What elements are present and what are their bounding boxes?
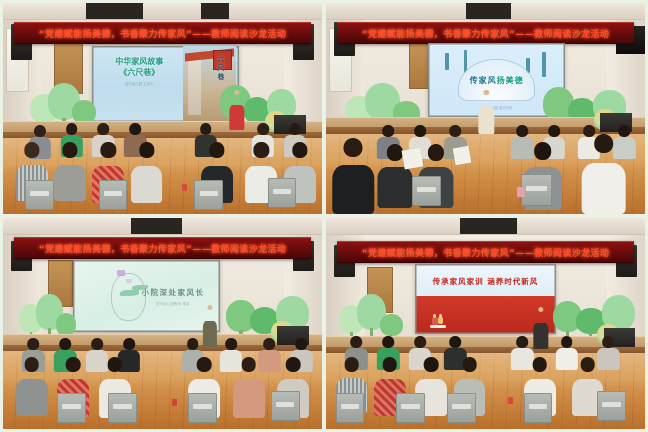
slide-vertical-text: 六尺巷 <box>216 55 226 82</box>
slide-square-deco <box>117 270 124 276</box>
folding-chair <box>271 391 300 421</box>
water-bottle <box>172 399 177 406</box>
folding-chair <box>57 393 86 423</box>
event-banner: “党建赋能扬美德，书香聚力传家风”——教师阅读沙龙活动 <box>337 241 634 263</box>
folding-chair <box>336 393 365 423</box>
photo-panel-top-right[interactable]: “党建赋能扬美德，书香聚力传家风”——教师阅读沙龙活动 传家风扬美德 富兴幼儿园… <box>326 3 645 214</box>
folding-chair <box>108 393 137 423</box>
banner-text: “党建赋能扬美德，书香聚力传家风”——教师阅读沙龙活动 <box>362 27 610 40</box>
presenter <box>226 90 247 130</box>
slide-subtitle: 富兴幼儿园教师 李某 <box>135 301 211 306</box>
drink-cup <box>517 187 525 198</box>
folding-chair <box>99 180 128 210</box>
banner-text: “党建赋能扬美德，书香聚力传家风”——教师阅读沙龙活动 <box>39 27 287 40</box>
slide-title-line1: 中华家风故事 <box>101 57 177 68</box>
slide-children-illustration <box>429 311 457 332</box>
event-banner: “党建赋能扬美德，书香聚力传家风”——教师阅读沙龙活动 <box>14 237 311 259</box>
folding-chair <box>521 174 553 206</box>
folding-chair <box>25 180 54 210</box>
audience-member <box>131 142 163 203</box>
folding-chair <box>412 176 441 206</box>
water-bottle <box>182 184 187 191</box>
water-bottle <box>508 397 513 404</box>
folding-chair <box>188 393 217 423</box>
audience-member <box>332 138 373 214</box>
projection-screen: 中华家风故事 《六尺巷》 富兴幼儿园 主讲人 六尺巷 <box>92 46 239 122</box>
slide-bar-deco <box>542 52 546 77</box>
slide-square-deco <box>126 279 132 283</box>
event-banner: “党建赋能扬美德，书香聚力传家风”——教师阅读沙龙活动 <box>14 22 311 44</box>
audience-member <box>233 357 265 418</box>
folding-chair <box>597 391 626 421</box>
photo-panel-top-left[interactable]: “党建赋能扬美德，书香聚力传家风”——教师阅读沙龙活动 中华家风故事 《六尺巷》… <box>3 3 322 214</box>
banner-text: “党建赋能扬美德，书香聚力传家风”——教师阅读沙龙活动 <box>362 246 610 259</box>
handout-paper <box>452 145 471 164</box>
banner-text: “党建赋能扬美德，书香聚力传家风”——教师阅读沙龙活动 <box>39 242 287 255</box>
slide-bar-deco <box>445 53 449 69</box>
photo-collage: “党建赋能扬美德，书香聚力传家风”——教师阅读沙龙活动 中华家风故事 《六尺巷》… <box>0 0 648 432</box>
photo-panel-bottom-right[interactable]: “党建赋能扬美德，书香聚力传家风”——教师阅读沙龙活动 传承家风家训 涵养时代新… <box>326 218 645 429</box>
event-banner: “党建赋能扬美德，书香聚力传家风”——教师阅读沙龙活动 <box>337 22 634 44</box>
slide-title-line2: 扬美德 <box>497 76 524 85</box>
projection-screen: 小院深处家风长 富兴幼儿园教师 李某 <box>73 260 220 332</box>
slide-fan-text: 传家风扬美德 <box>470 75 524 86</box>
slide-title-line1: 传家风 <box>470 76 497 85</box>
slide-subtitle: 富兴幼儿园 主讲人 <box>101 81 177 86</box>
slide-title-line2: 《六尺巷》 <box>101 68 177 79</box>
handout-paper <box>401 147 423 169</box>
folding-chair <box>447 393 476 423</box>
presenter <box>476 90 497 134</box>
photo-panel-bottom-left[interactable]: “党建赋能扬美德，书香聚力传家风”——教师阅读沙龙活动 小院深处家风长 富兴幼儿… <box>3 218 322 429</box>
folding-chair <box>524 393 553 423</box>
slide-title-line1: 传承家风家训 涵养时代新风 <box>415 276 555 287</box>
audience-member <box>581 134 626 214</box>
ceiling <box>3 3 322 20</box>
folding-chair <box>194 180 223 210</box>
audience-member <box>16 357 48 416</box>
folding-chair <box>268 178 297 208</box>
audience-member <box>54 142 86 201</box>
slide-title-line1: 小院深处家风长 <box>135 287 211 298</box>
folding-chair <box>396 393 425 423</box>
